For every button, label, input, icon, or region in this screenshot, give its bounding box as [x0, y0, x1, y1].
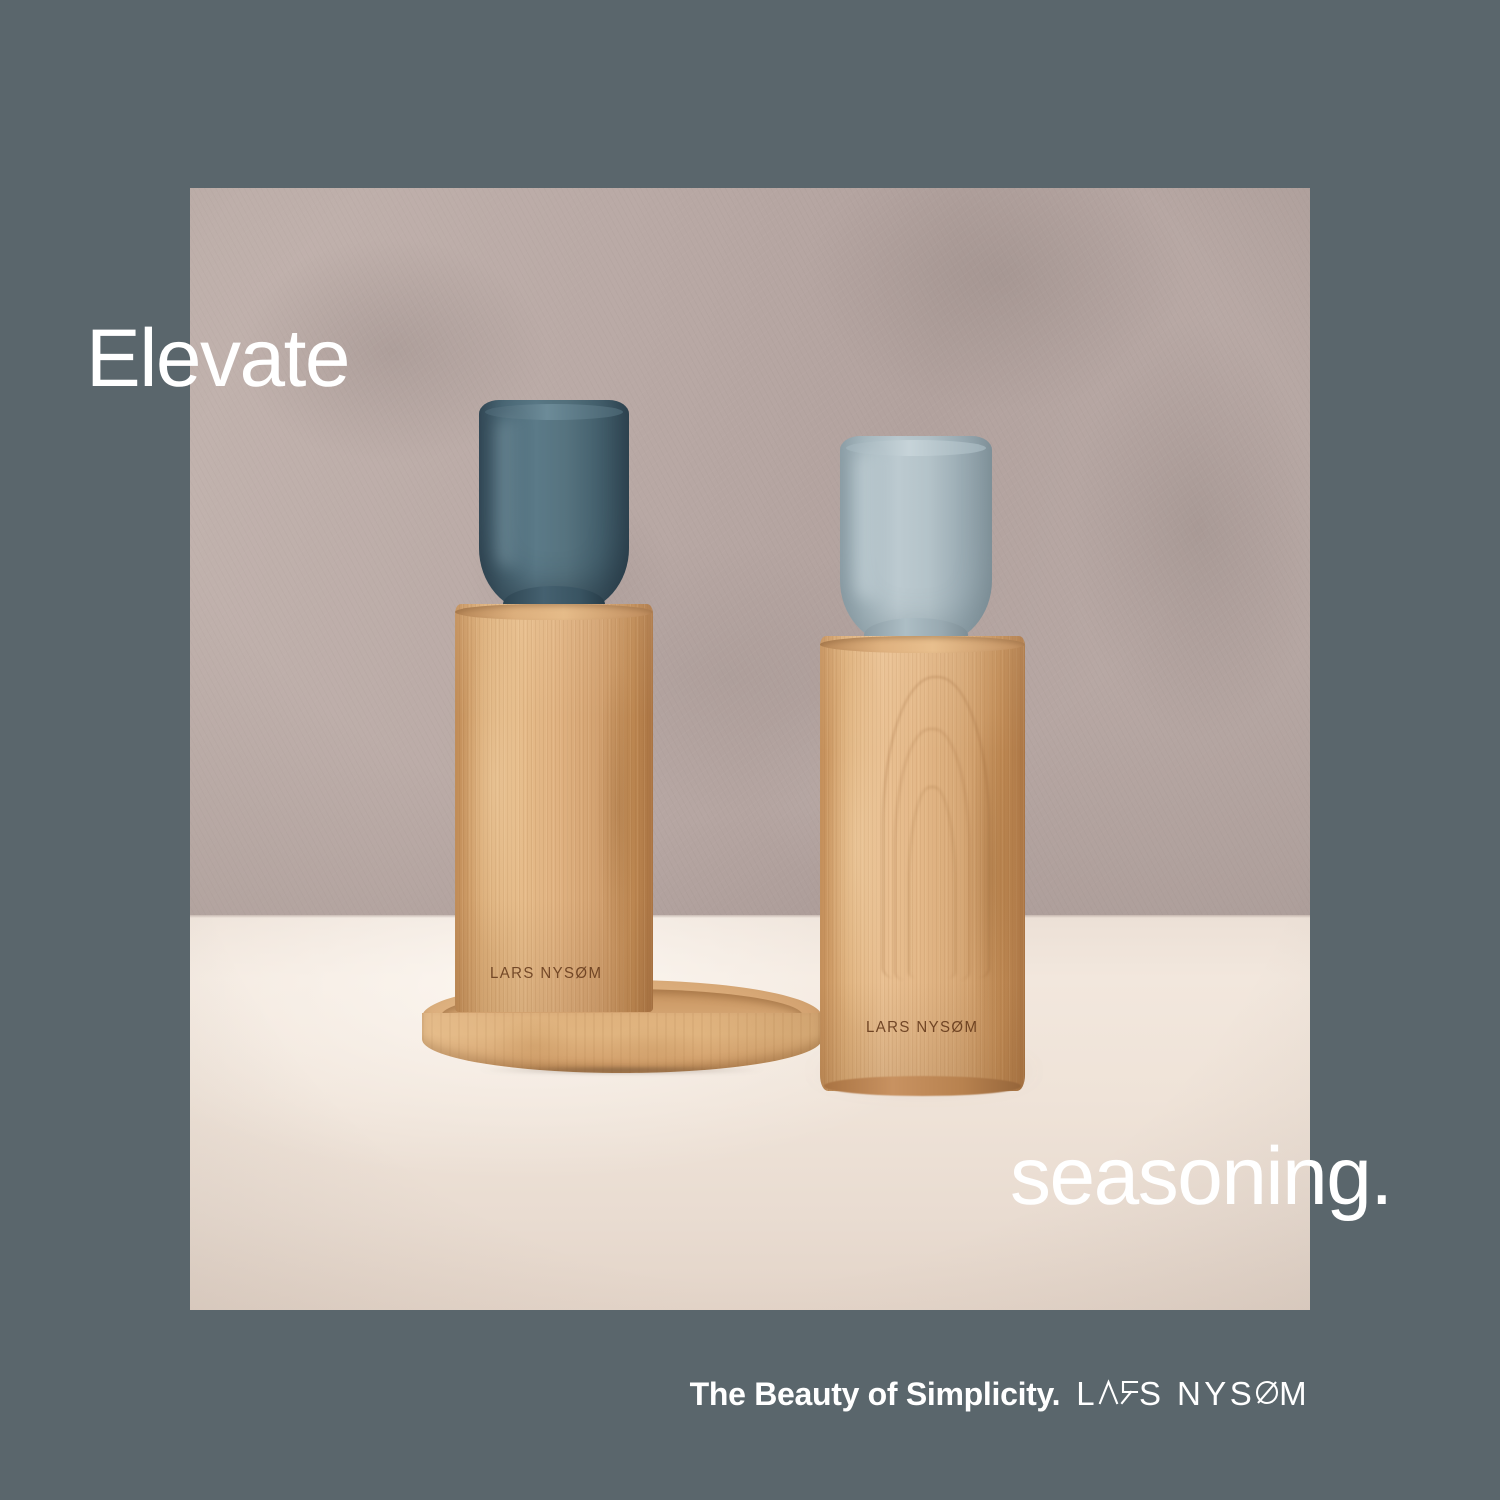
right-mill-ceramic-cap: [840, 436, 992, 644]
logo-letter-y: Y: [1204, 1375, 1229, 1412]
tabletop-surface: [190, 915, 1310, 1310]
plaster-wall-background: [190, 188, 1310, 929]
brand-logotype: LS NYSM: [1076, 1372, 1310, 1413]
logo-letter-m: M: [1279, 1375, 1310, 1412]
logo-letter-r: [1119, 1372, 1139, 1405]
logo-letter-s2: S: [1230, 1375, 1255, 1412]
logo-letter-n: N: [1177, 1375, 1204, 1412]
tray-front-wall: [422, 1013, 822, 1073]
wood-grain-arch-2: [894, 728, 970, 980]
advertisement-canvas: LARS NYSØM LARS NYSØM Elevate seasoning.…: [0, 0, 1500, 1500]
footer-tagline: The Beauty of Simplicity.: [690, 1376, 1061, 1413]
left-mill-ceramic-cap: [479, 400, 629, 612]
wood-grain-arch-3: [908, 786, 956, 978]
left-mill-wood-body: [455, 604, 653, 1012]
logo-letter-s: S: [1139, 1375, 1164, 1412]
left-pepper-mill: [455, 400, 653, 1012]
logo-letter-l: L: [1076, 1375, 1098, 1412]
headline-line-2: seasoning.: [1010, 1136, 1392, 1218]
wood-grain-arch-1: [882, 676, 990, 978]
footer-bar: The Beauty of Simplicity. LS NYSM: [190, 1372, 1310, 1420]
right-mill-base-edge: [824, 1076, 1021, 1096]
headline-line-1: Elevate: [86, 318, 349, 400]
right-mill-brand-engraving: LARS NYSØM: [866, 1019, 978, 1036]
logo-letter-a: [1098, 1372, 1119, 1405]
tray-contact-shadow: [430, 1068, 814, 1077]
logo-space: [1164, 1375, 1177, 1412]
wall-vignette: [190, 188, 1310, 929]
table-horizon-line: [190, 915, 1310, 918]
logo-letter-oslash: [1255, 1372, 1279, 1405]
left-mill-brand-engraving: LARS NYSØM: [490, 965, 602, 982]
right-salt-mill: [820, 436, 1025, 1091]
